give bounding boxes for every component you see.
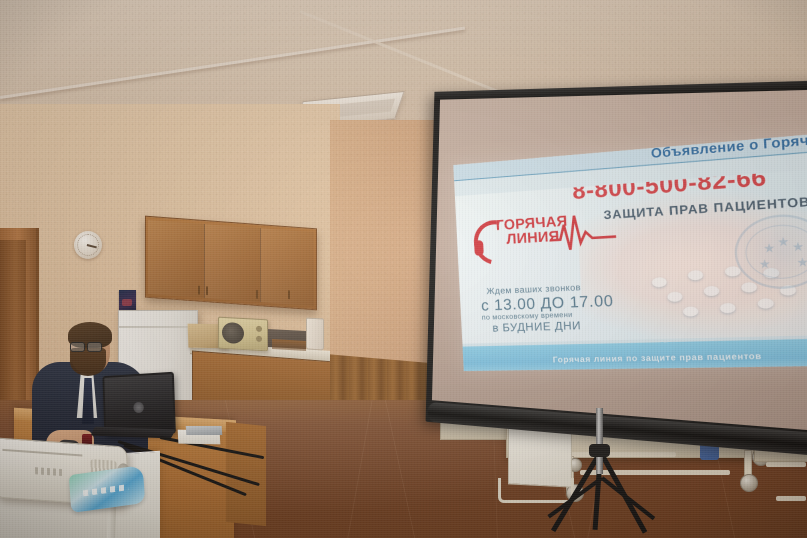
glasses-icon: [70, 342, 104, 350]
headset-earpiece-icon: [474, 240, 484, 256]
notebook-on-desk: [186, 426, 223, 435]
slide-body: ★ ★ ★ ★ ★ ГОРЯЧАЯ ЛИНИЯ: [455, 167, 807, 344]
bag-print: [83, 484, 128, 496]
microwave-window: [222, 322, 244, 344]
bed-frame-rod-1: [556, 452, 676, 457]
upper-cabinets[interactable]: [145, 216, 317, 311]
photo-scene: Объявление о Горячей линии: [0, 0, 807, 538]
tripod-pole: [596, 408, 603, 474]
clock-face: [77, 234, 99, 256]
cabinet-handle-1[interactable]: [198, 286, 200, 295]
projection-screen: Объявление о Горячей линии: [426, 79, 807, 459]
cabinet-handle-4[interactable]: [288, 290, 290, 299]
projector-label: [35, 467, 63, 476]
cabinet-handle-3[interactable]: [256, 290, 258, 299]
microwave[interactable]: [218, 317, 268, 352]
cabinet-door-2[interactable]: [204, 224, 261, 302]
tripod-hub: [589, 444, 610, 457]
cabinet-door-1[interactable]: [148, 220, 205, 298]
panel-foot: [498, 478, 574, 503]
hotline-hours: Ждем ваших звонков с 13.00 ДО 17.00 по м…: [480, 282, 615, 337]
ceiling-seam: [0, 27, 465, 99]
laptop-logo-icon: [133, 402, 144, 413]
kettle[interactable]: [306, 318, 324, 351]
wall-clock-icon: [74, 231, 102, 259]
microwave-knob-2[interactable]: [256, 336, 262, 342]
bed-frame-rod-3: [766, 462, 806, 467]
beard: [70, 348, 106, 376]
laptop[interactable]: [102, 372, 175, 435]
bed-caster-2: [740, 474, 758, 492]
counter-tray: [272, 339, 306, 351]
bed-frame-rod-4: [776, 496, 806, 501]
projected-slide: Объявление о Горячей линии: [453, 132, 807, 371]
slide-footer-text: Горячая линия по защите прав пациентов: [552, 351, 762, 364]
screen-surface: Объявление о Горячей линии: [432, 89, 807, 434]
microwave-knob-1[interactable]: [256, 326, 262, 332]
projector-seam: [2, 449, 82, 456]
slide-title: Объявление о Горячей линии: [650, 132, 807, 162]
cabinet-handle-2[interactable]: [206, 286, 208, 295]
cabinet-door-3[interactable]: [260, 228, 314, 306]
